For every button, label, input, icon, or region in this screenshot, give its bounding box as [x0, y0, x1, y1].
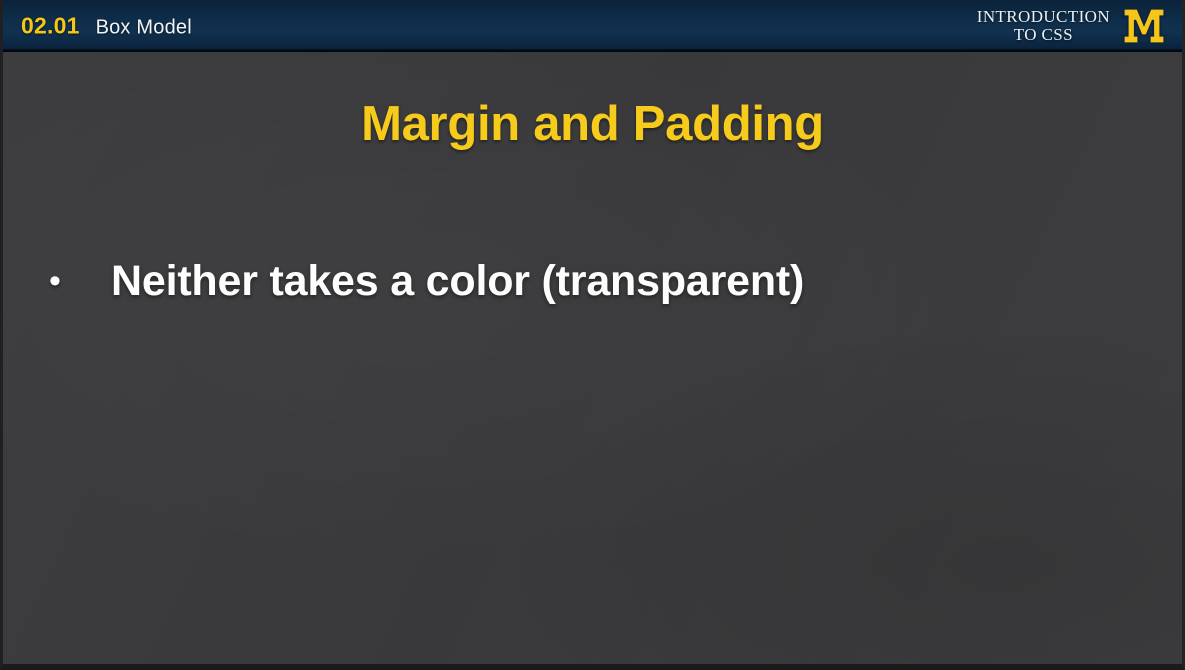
section-title: Box Model: [96, 17, 192, 40]
course-name: INTRODUCTION TO CSS: [977, 8, 1110, 44]
header-right-group: INTRODUCTION TO CSS: [977, 6, 1166, 46]
bullet-point-icon: •: [49, 248, 111, 314]
presentation-slide: 02.01 Box Model INTRODUCTION TO CSS Marg…: [0, 0, 1185, 670]
slide-header-bar: 02.01 Box Model INTRODUCTION TO CSS: [3, 0, 1182, 52]
section-number: 02.01: [21, 13, 80, 40]
header-left-group: 02.01 Box Model: [21, 13, 192, 40]
slide-title: Margin and Padding: [3, 96, 1182, 152]
michigan-block-m-logo: [1122, 6, 1166, 46]
course-name-line-1: INTRODUCTION: [977, 8, 1110, 26]
bullet-text: Neither takes a color (transparent): [111, 248, 804, 314]
list-item: • Neither takes a color (transparent): [49, 248, 1142, 314]
bullet-list: • Neither takes a color (transparent): [49, 248, 1142, 314]
course-name-line-2: TO CSS: [977, 26, 1110, 44]
